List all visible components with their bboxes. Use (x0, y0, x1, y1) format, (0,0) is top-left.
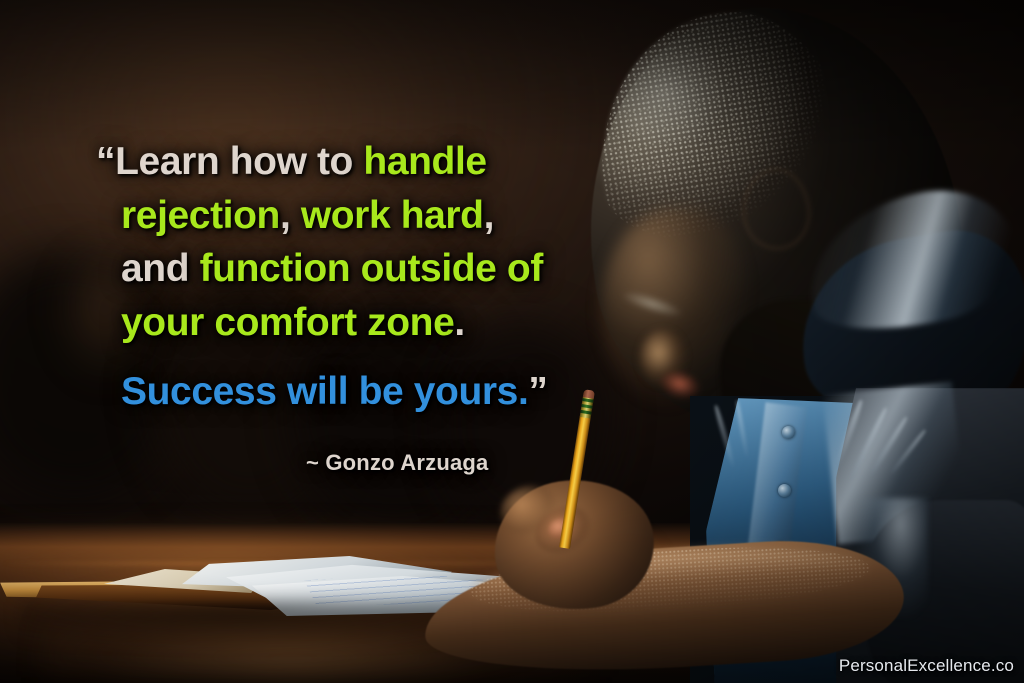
quote-segment: function outside of (200, 247, 543, 290)
quote-image-canvas: “Learn how to handle rejection, work har… (0, 0, 1024, 683)
quote-segment: “Learn how to (96, 140, 363, 183)
quote-segment: . (454, 301, 464, 344)
quote-segment: work hard (301, 194, 484, 237)
quote-line-4: your comfort zone. (121, 303, 566, 344)
site-watermark: PersonalExcellence.co (839, 656, 1014, 676)
quote-segment: , (280, 194, 301, 237)
quote-line-3: and function outside of (121, 249, 566, 290)
quote-attribution: ~ Gonzo Arzuaga (306, 450, 488, 476)
quote-line-2: rejection, work hard, (121, 196, 566, 237)
quote-segment: Success will be yours. (121, 370, 528, 413)
quote-segment: , (484, 194, 494, 237)
quote-block: “Learn how to handle rejection, work har… (96, 142, 566, 413)
quote-segment: your comfort zone (121, 301, 454, 344)
quote-line-success: Success will be yours.” (121, 372, 566, 413)
quote-segment: handle (363, 140, 486, 183)
quote-segment: and (121, 247, 200, 290)
quote-line-1: “Learn how to handle (96, 142, 566, 183)
quote-segment: rejection (121, 194, 280, 237)
quote-segment: ” (528, 370, 547, 413)
